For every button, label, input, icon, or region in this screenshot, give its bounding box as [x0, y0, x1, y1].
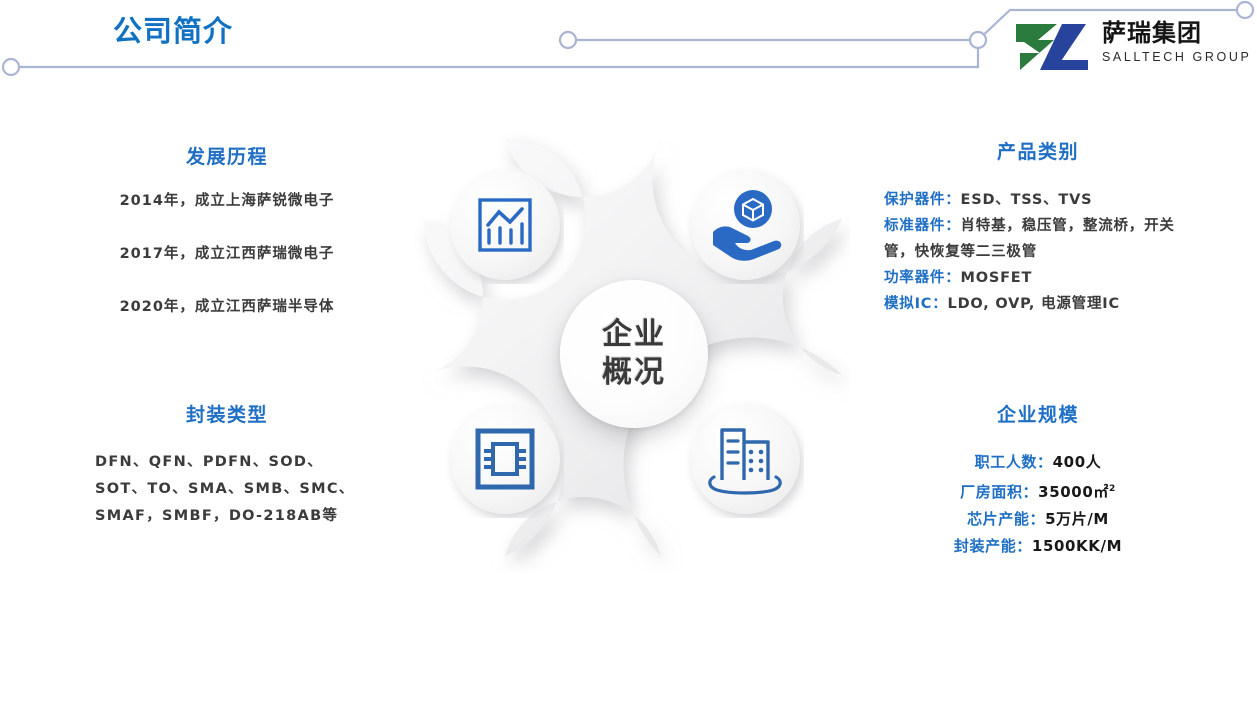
logo-text: 萨瑞集团 SALLTECH GROUP [1102, 18, 1252, 65]
package-types-body: DFN、QFN、PDFN、SOD、SOT、TO、SMA、SMB、SMC、SMAF… [82, 449, 372, 530]
scale-row-value: 1500KK/M [1032, 537, 1122, 555]
section-package-types: 封装类型 DFN、QFN、PDFN、SOD、SOT、TO、SMA、SMB、SMC… [82, 400, 372, 530]
node-chip-ic[interactable] [446, 400, 564, 518]
node-buildings[interactable] [686, 400, 804, 518]
product-row: 保护器件：ESD、TSS、TVS [878, 187, 1198, 213]
section-package-title: 封装类型 [82, 400, 372, 427]
deco-node-right [1237, 2, 1253, 18]
center-hub: 企业 概况 [560, 280, 708, 428]
chart-growth-icon [446, 166, 564, 284]
product-row-value: ESD、TSS、TVS [961, 192, 1093, 208]
node-hand-package[interactable] [686, 166, 804, 284]
chip-ic-icon [446, 400, 564, 518]
company-logo: 萨瑞集团 SALLTECH GROUP [1010, 18, 1250, 80]
history-item: 2020年，成立江西萨瑞半导体 [82, 297, 372, 317]
page-title: 公司简介 [113, 8, 233, 50]
deco-node-junction [970, 32, 986, 48]
scale-row-superscript: 2 [1109, 484, 1116, 494]
scale-row-value: 400人 [1053, 453, 1102, 471]
section-company-scale: 企业规模 职工人数：400人 厂房面积：35000㎡2 芯片产能：5万片/M 封… [878, 400, 1198, 560]
logo-name-cn: 萨瑞集团 [1102, 18, 1252, 48]
hub-line-2: 概况 [602, 354, 666, 392]
history-item: 2014年，成立上海萨锐微电子 [82, 191, 372, 211]
center-diagram: 企业 概况 [408, 122, 850, 572]
scale-row-key: 厂房面积： [960, 483, 1038, 501]
product-row: 功率器件：MOSFET [878, 265, 1198, 291]
scale-row: 职工人数：400人 [878, 449, 1198, 476]
product-row-key: 功率器件： [884, 270, 961, 286]
logo-mark-icon [1010, 20, 1098, 74]
section-history: 发展历程 2014年，成立上海萨锐微电子 2017年，成立江西萨瑞微电子 202… [82, 142, 372, 350]
product-row-value: LDO, OVP, 电源管理IC [948, 296, 1120, 312]
scale-row-value: 35000㎡ [1038, 483, 1109, 501]
logo-name-en: SALLTECH GROUP [1102, 49, 1252, 65]
section-scale-title: 企业规模 [878, 400, 1198, 427]
hand-package-icon [686, 166, 804, 284]
scale-row-key: 芯片产能： [967, 510, 1045, 528]
deco-node-left [3, 59, 19, 75]
scale-row: 芯片产能：5万片/M [878, 506, 1198, 533]
section-products-title: 产品类别 [878, 137, 1198, 164]
deco-node-mid [560, 32, 576, 48]
product-row-value: MOSFET [961, 270, 1033, 286]
section-history-title: 发展历程 [82, 142, 372, 169]
section-product-categories: 产品类别 保护器件：ESD、TSS、TVS 标准器件：肖特基，稳压管，整流桥，开… [878, 137, 1198, 317]
scale-row: 封装产能：1500KK/M [878, 533, 1198, 560]
hub-line-1: 企业 [602, 316, 666, 354]
scale-row-key: 封装产能： [954, 537, 1032, 555]
product-row-key: 保护器件： [884, 192, 961, 208]
product-row: 标准器件：肖特基，稳压管，整流桥，开关管，快恢复等二三极管 [878, 213, 1198, 265]
node-chart-growth[interactable] [446, 166, 564, 284]
scale-row: 厂房面积：35000㎡2 [878, 476, 1198, 506]
history-item: 2017年，成立江西萨瑞微电子 [82, 244, 372, 264]
slide-root: 公司简介 萨瑞集团 SALLTECH GROUP 发展历程 2014年，成立上海… [0, 0, 1257, 704]
scale-row-value: 5万片/M [1045, 510, 1109, 528]
scale-row-key: 职工人数： [975, 453, 1053, 471]
buildings-icon [686, 400, 804, 518]
product-row-key: 标准器件： [884, 218, 961, 234]
product-row-key: 模拟IC： [884, 296, 948, 312]
product-row: 模拟IC：LDO, OVP, 电源管理IC [878, 291, 1198, 317]
